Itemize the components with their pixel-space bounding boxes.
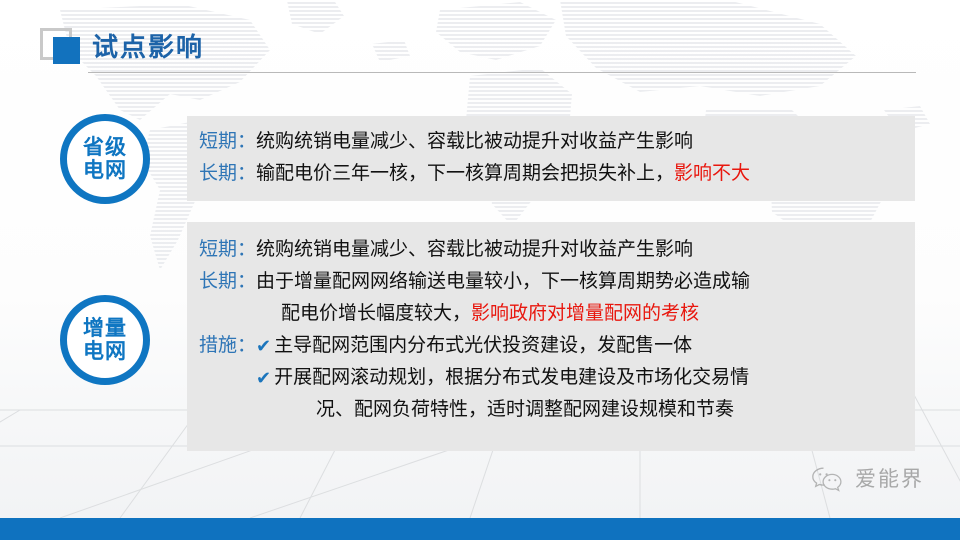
slide-canvas: 试点影响 省级 电网 增量 电网 短期： 统购统销电量减少、容载比被动提升对收益… [0, 0, 960, 540]
measures-block: 措施： ✔ 主导配网范围内分布式光伏投资建设，发配售一体 ✔ 开展配网滚动规划，… [199, 330, 903, 426]
square-filled-icon [53, 37, 80, 64]
long-term-label: 长期： [199, 158, 256, 190]
measure-text: 主导配网范围内分布式光伏投资建设，发配售一体 [274, 330, 903, 362]
long-term-text-plain: 输配电价三年一核，下一核算周期会把损失补上， [256, 163, 674, 184]
incremental-grid-box: 短期： 统购统销电量减少、容载比被动提升对收益产生影响 长期： 由于增量配网网络… [187, 222, 915, 451]
measure-text-continuation: 况、配网负荷特性，适时调整配网建设规模和节奏 [256, 394, 903, 426]
badge-line-1: 增量 [83, 317, 127, 340]
short-term-row: 短期： 统购统销电量减少、容载比被动提升对收益产生影响 [199, 234, 903, 266]
long-term-continuation-plain: 配电价增长幅度较大， [281, 298, 471, 330]
long-term-label: 长期： [199, 266, 256, 298]
check-icon: ✔ [256, 330, 274, 362]
badge-line-1: 省级 [83, 136, 127, 159]
badge-provincial-grid: 省级 电网 [60, 114, 150, 204]
page-title: 试点影响 [92, 30, 204, 64]
short-term-label: 短期： [199, 234, 256, 266]
measures-label: 措施： [199, 330, 256, 362]
wechat-account-name: 爱能界 [855, 468, 924, 492]
short-term-label: 短期： [199, 126, 256, 158]
title-divider [88, 72, 916, 73]
list-item: ✔ 开展配网滚动规划，根据分布式发电建设及市场化交易情 [256, 362, 903, 394]
list-item: ✔ 主导配网范围内分布式光伏投资建设，发配售一体 [256, 330, 903, 362]
long-term-row: 长期： 由于增量配网网络输送电量较小，下一核算周期势必造成输 [199, 266, 903, 298]
long-term-text: 输配电价三年一核，下一核算周期会把损失补上，影响不大 [256, 158, 903, 190]
long-term-text: 由于增量配网网络输送电量较小，下一核算周期势必造成输 [256, 266, 903, 298]
long-term-text-highlight: 影响不大 [674, 163, 750, 184]
measure-text: 开展配网滚动规划，根据分布式发电建设及市场化交易情 [274, 362, 903, 394]
short-term-text: 统购统销电量减少、容载比被动提升对收益产生影响 [256, 126, 903, 158]
measures-list: ✔ 主导配网范围内分布式光伏投资建设，发配售一体 ✔ 开展配网滚动规划，根据分布… [256, 330, 903, 426]
wechat-icon [810, 466, 846, 494]
check-icon: ✔ [256, 362, 274, 394]
badge-line-2: 电网 [83, 340, 127, 363]
wechat-watermark: 爱能界 [810, 466, 924, 494]
footer-bar [0, 518, 960, 540]
long-term-continuation-highlight: 影响政府对增量配网的考核 [471, 298, 699, 330]
badge-incremental-grid: 增量 电网 [60, 295, 150, 385]
long-term-continuation-row: 配电价增长幅度较大，影响政府对增量配网的考核 [199, 298, 903, 330]
badge-line-2: 电网 [83, 159, 127, 182]
provincial-grid-box: 短期： 统购统销电量减少、容载比被动提升对收益产生影响 长期： 输配电价三年一核… [187, 116, 915, 201]
short-term-text: 统购统销电量减少、容载比被动提升对收益产生影响 [256, 234, 903, 266]
long-term-row: 长期： 输配电价三年一核，下一核算周期会把损失补上，影响不大 [199, 158, 903, 190]
slide-header: 试点影响 [0, 0, 960, 84]
short-term-row: 短期： 统购统销电量减少、容载比被动提升对收益产生影响 [199, 126, 903, 158]
